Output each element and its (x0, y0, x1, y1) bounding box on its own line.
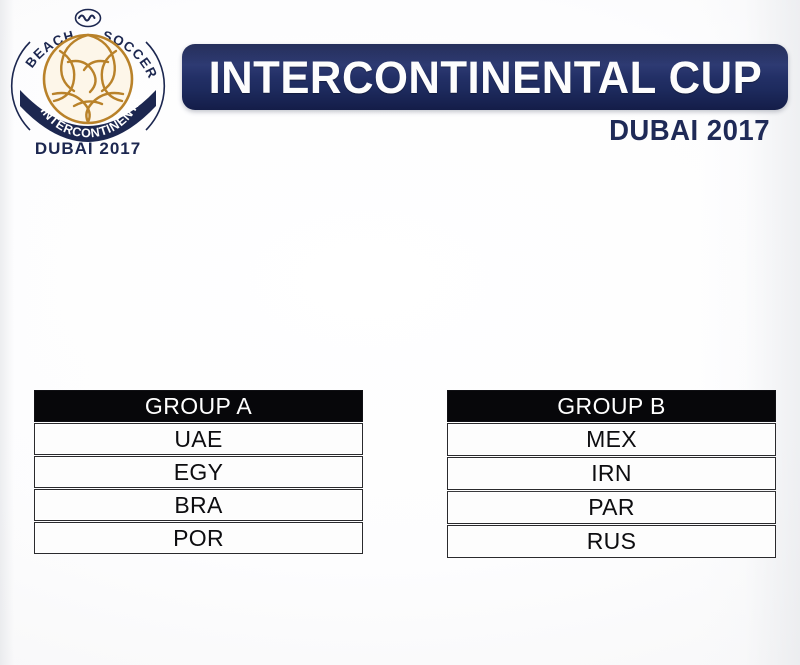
table-row: POR (34, 522, 363, 554)
table-row: EGY (34, 456, 363, 488)
table-row: PAR (447, 491, 776, 524)
draw-board: BEACH SOCCER (0, 0, 800, 665)
group-a-table: GROUP A UAE EGY BRA POR (34, 390, 363, 554)
wave-icon (76, 10, 101, 27)
event-subtitle: DUBAI 2017 (39, 115, 771, 148)
table-row: UAE (34, 423, 363, 455)
page-title: INTERCONTINENTAL CUP (208, 55, 762, 100)
group-a-header: GROUP A (34, 390, 363, 422)
group-b-table: GROUP B MEX IRN PAR RUS (447, 390, 776, 558)
table-row: RUS (447, 525, 776, 558)
table-row: BRA (34, 489, 363, 521)
soccer-ball-icon (44, 35, 132, 123)
table-row: MEX (447, 423, 776, 456)
table-row: IRN (447, 457, 776, 490)
event-title-banner: INTERCONTINENTAL CUP (182, 44, 788, 110)
group-b-header: GROUP B (447, 390, 776, 422)
